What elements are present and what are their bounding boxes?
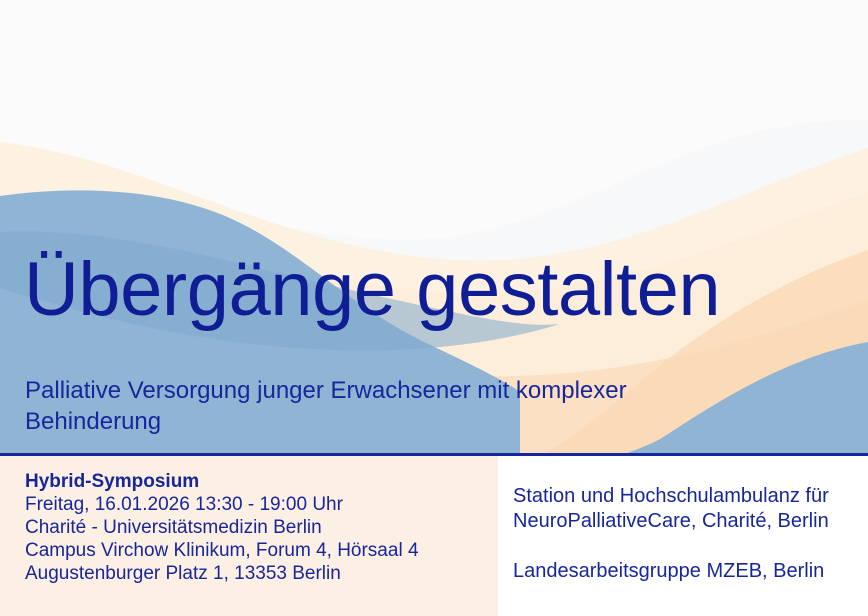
organizer-item: Station und Hochschulambulanz für NeuroP… <box>513 484 868 534</box>
event-institution: Charité - Universitätsmedizin Berlin <box>25 516 498 539</box>
event-details-panel: Hybrid-Symposium Freitag, 16.01.2026 13:… <box>0 456 498 616</box>
event-datetime: Freitag, 16.01.2026 13:30 - 19:00 Uhr <box>25 493 498 516</box>
event-venue: Campus Virchow Klinikum, Forum 4, Hörsaa… <box>25 539 498 562</box>
organizer-line-1: Landesarbeitsgruppe MZEB, Berlin <box>513 559 868 584</box>
organizer-item: Landesarbeitsgruppe MZEB, Berlin <box>513 559 868 584</box>
event-address: Augustenburger Platz 1, 13353 Berlin <box>25 562 498 585</box>
organizers-panel: Station und Hochschulambulanz für NeuroP… <box>498 456 868 616</box>
poster-content: Übergänge gestalten Palliative Versorgun… <box>0 0 868 616</box>
organizer-line-2: NeuroPalliativeCare, Charité, Berlin <box>513 509 868 534</box>
footer: Hybrid-Symposium Freitag, 16.01.2026 13:… <box>0 456 868 616</box>
poster-subtitle: Palliative Versorgung junger Erwachsener… <box>25 375 705 437</box>
organizer-line-1: Station und Hochschulambulanz für <box>513 484 868 509</box>
poster-canvas: Übergänge gestalten Palliative Versorgun… <box>0 0 868 616</box>
page-title: Übergänge gestalten <box>24 252 720 328</box>
event-heading: Hybrid-Symposium <box>25 470 498 493</box>
